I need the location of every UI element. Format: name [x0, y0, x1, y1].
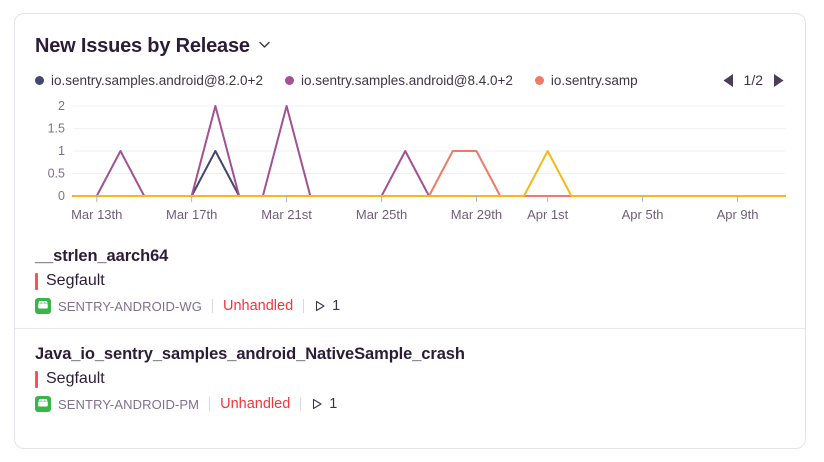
status-badge: Unhandled	[223, 298, 293, 314]
legend-item-2[interactable]: io.sentry.samp	[535, 73, 638, 88]
y-axis-tick-label: 1	[58, 144, 65, 158]
x-axis-tick-label: Mar 25th	[356, 207, 407, 222]
play-icon	[311, 398, 323, 410]
x-axis-tick-label: Mar 29th	[451, 207, 502, 222]
issue-events: 1	[311, 396, 337, 412]
y-axis-tick-label: 2	[58, 99, 65, 113]
list-item[interactable]: __strlen_aarch64 Segfault	[15, 231, 805, 328]
legend-dot-icon	[35, 76, 44, 85]
meta-divider	[303, 299, 304, 313]
x-axis-tick-label: Mar 17th	[166, 207, 217, 222]
issue-title[interactable]: Java_io_sentry_samples_android_NativeSam…	[35, 345, 785, 363]
x-axis-tick-label: Apr 5th	[622, 207, 664, 222]
chart-panel: New Issues by Release io.sentry.samples.…	[15, 14, 805, 231]
issue-meta: SENTRY-ANDROID-PM Unhandled 1	[35, 396, 785, 412]
x-axis-tick-label: Apr 9th	[717, 207, 759, 222]
legend-items: io.sentry.samples.android@8.2.0+2 io.sen…	[35, 70, 714, 90]
legend-label: io.sentry.samples.android@8.4.0+2	[301, 73, 513, 88]
issue-short-id: SENTRY-ANDROID-PM	[58, 397, 199, 412]
android-icon	[35, 298, 51, 314]
new-issues-chart[interactable]: 00.511.52Mar 13thMar 17thMar 21stMar 25t…	[35, 98, 787, 228]
y-axis-tick-label: 1.5	[48, 122, 65, 136]
play-icon	[314, 300, 326, 312]
meta-divider	[209, 397, 210, 411]
y-axis-tick-label: 0.5	[48, 167, 65, 181]
issue-culprit-text: Segfault	[46, 370, 105, 388]
legend-dot-icon	[285, 76, 294, 85]
issue-culprit-text: Segfault	[46, 272, 105, 290]
new-issues-by-release-card: New Issues by Release io.sentry.samples.…	[14, 13, 806, 449]
x-axis-tick-label: Mar 21st	[261, 207, 312, 222]
chart-legend: io.sentry.samples.android@8.2.0+2 io.sen…	[35, 70, 785, 90]
legend-label: io.sentry.samp	[551, 73, 638, 88]
panel-header: New Issues by Release	[35, 32, 785, 60]
legend-label: io.sentry.samples.android@8.2.0+2	[51, 73, 263, 88]
legend-dot-icon	[535, 76, 544, 85]
meta-divider	[300, 397, 301, 411]
pagination-label: 1/2	[744, 72, 763, 88]
screenshot-root: New Issues by Release io.sentry.samples.…	[0, 0, 824, 462]
level-indicator-bar	[35, 273, 38, 290]
issue-events: 1	[314, 298, 340, 314]
issue-events-count: 1	[329, 396, 337, 412]
issue-culprit: Segfault	[35, 272, 785, 290]
issue-events-count: 1	[332, 298, 340, 314]
issue-meta: SENTRY-ANDROID-WG Unhandled 1	[35, 298, 785, 314]
android-icon	[35, 396, 51, 412]
issue-short-id: SENTRY-ANDROID-WG	[58, 299, 202, 314]
triangle-left-icon[interactable]	[722, 73, 735, 88]
list-item[interactable]: Java_io_sentry_samples_android_NativeSam…	[15, 328, 805, 426]
status-badge: Unhandled	[220, 396, 290, 412]
level-indicator-bar	[35, 371, 38, 388]
issue-title[interactable]: __strlen_aarch64	[35, 247, 785, 265]
chevron-down-icon[interactable]	[258, 38, 271, 51]
issue-culprit: Segfault	[35, 370, 785, 388]
y-axis-tick-label: 0	[58, 189, 65, 203]
legend-pagination: 1/2	[714, 72, 785, 88]
x-axis-tick-label: Mar 13th	[71, 207, 122, 222]
issue-list: __strlen_aarch64 Segfault	[15, 231, 805, 426]
meta-divider	[212, 299, 213, 313]
triangle-right-icon[interactable]	[772, 73, 785, 88]
page-title: New Issues by Release	[35, 35, 250, 58]
x-axis-tick-label: Apr 1st	[527, 207, 569, 222]
legend-item-1[interactable]: io.sentry.samples.android@8.4.0+2	[285, 73, 513, 88]
legend-item-0[interactable]: io.sentry.samples.android@8.2.0+2	[35, 73, 263, 88]
chart-svg: 00.511.52Mar 13thMar 17thMar 21stMar 25t…	[35, 98, 787, 228]
